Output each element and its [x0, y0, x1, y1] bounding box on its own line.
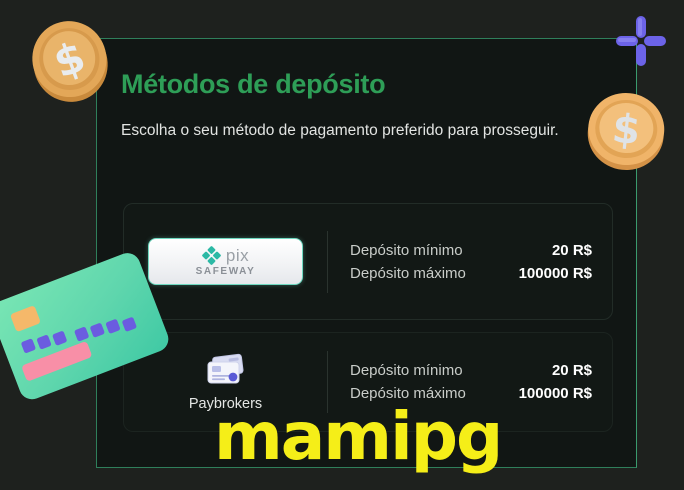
pix-wordmark: pix — [226, 247, 249, 264]
limit-row: Depósito máximo 100000 R$ — [350, 262, 592, 285]
limit-label: Depósito mínimo — [350, 362, 463, 379]
screen-root: Métodos de depósito Escolha o seu método… — [0, 0, 684, 490]
limit-amount: 20 R$ — [552, 362, 592, 379]
limit-amount: 100000 R$ — [519, 385, 592, 402]
credit-cards-icon — [203, 353, 249, 389]
limit-row: Depósito mínimo 20 R$ — [350, 359, 592, 382]
limit-label: Depósito máximo — [350, 265, 466, 282]
payment-method-pix-safeway[interactable]: pix SAFEWAY Depósito mínimo 20 R$ Depósi… — [123, 203, 613, 320]
svg-text:$: $ — [47, 32, 91, 88]
limit-amount: 20 R$ — [552, 242, 592, 259]
watermark-text: mamipg — [214, 404, 501, 470]
limit-row: Depósito mínimo 20 R$ — [350, 239, 592, 262]
limit-label: Depósito mínimo — [350, 242, 463, 259]
pix-diamond-icon — [202, 246, 221, 265]
page-title: Métodos de depósito — [121, 69, 385, 100]
pix-limits: Depósito mínimo 20 R$ Depósito máximo 10… — [328, 239, 612, 285]
page-subtitle: Escolha o seu método de pagamento prefer… — [121, 119, 571, 143]
pix-safeway-logo-column: pix SAFEWAY — [124, 238, 327, 285]
pix-safeway-logo: pix SAFEWAY — [148, 238, 303, 285]
safeway-wordmark: SAFEWAY — [196, 266, 256, 277]
limit-amount: 100000 R$ — [519, 265, 592, 282]
